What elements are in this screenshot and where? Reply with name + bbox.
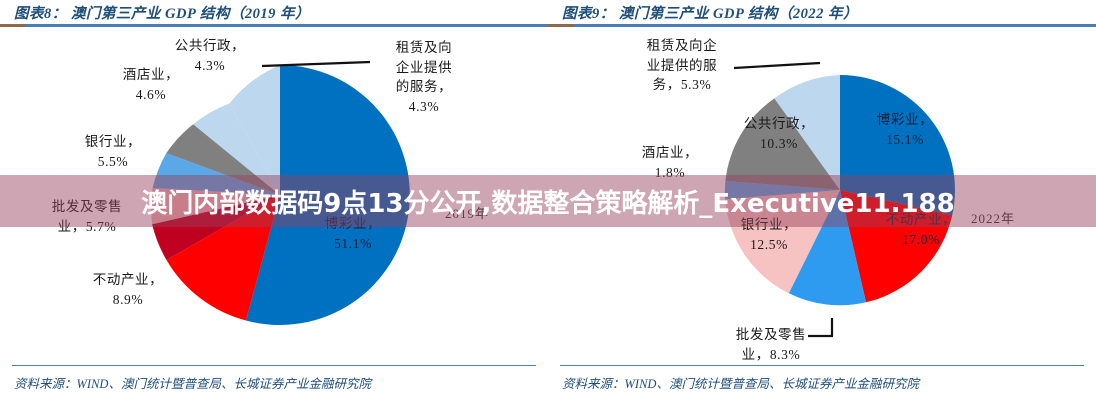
pie-label-hotel-2019: 酒店业， 4.6% xyxy=(96,65,206,104)
title-rule-accent xyxy=(548,24,574,27)
title-rule-main xyxy=(574,24,1096,27)
figure-pair-page: 图表8： 澳门第三产业 GDP 结构（2019 年） xyxy=(0,0,1096,400)
title-rule-right xyxy=(548,24,1096,27)
footer-rule-right xyxy=(560,365,1084,366)
pie-label-leasing-2022: 租赁及向企 业提供的服 务，5.3% xyxy=(622,36,742,95)
title-rule-accent xyxy=(0,24,26,27)
watermark-band xyxy=(0,175,1096,227)
pie-label-realestate-2019: 不动产业， 8.9% xyxy=(68,270,188,309)
pie-label-leasing-2019: 租赁及向 企业提供 的服务， 4.3% xyxy=(376,38,472,116)
pie-label-banking-2019: 银行业， 5.5% xyxy=(58,132,168,171)
source-note-2019: 资料来源：WIND、澳门统计暨普查局、长城证券产业金融研究院 xyxy=(14,373,371,392)
title-rule-main xyxy=(26,24,548,27)
pie-label-publicadmin-2022: 公共行政， 10.3% xyxy=(724,114,834,153)
leader-line-leasing-2022 xyxy=(734,63,820,68)
pie-label-wholesale-2022: 批发及零售 业，8.3% xyxy=(706,325,836,364)
title-rule-left xyxy=(0,24,548,27)
footer-rule-left xyxy=(12,365,536,366)
pie-label-gaming-2022: 博彩业， 15.1% xyxy=(855,110,955,149)
leader-line-leasing-2019 xyxy=(262,62,370,66)
source-note-2022: 资料来源：WIND、澳门统计暨普查局、长城证券产业金融研究院 xyxy=(562,373,919,392)
page-title-2022: 图表9： 澳门第三产业 GDP 结构（2022 年） xyxy=(562,2,858,23)
page-title-2019: 图表8： 澳门第三产业 GDP 结构（2019 年） xyxy=(14,2,310,23)
